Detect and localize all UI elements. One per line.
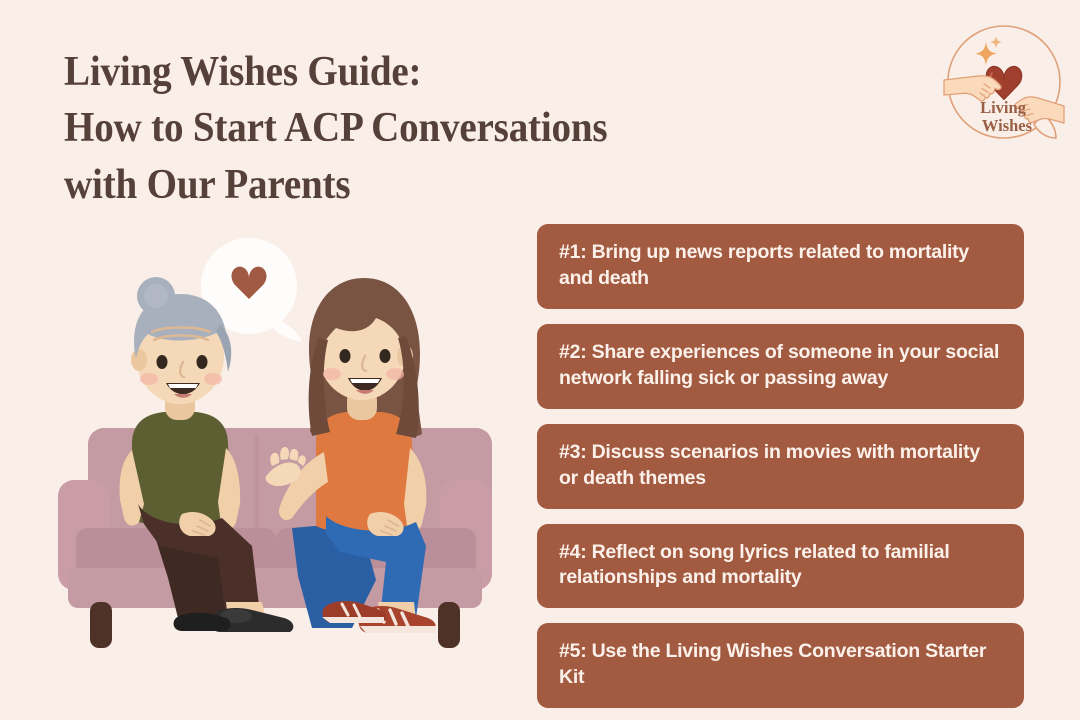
- logo-line-2: Wishes: [982, 116, 1033, 135]
- tip-card-5[interactable]: #5: Use the Living Wishes Conversation S…: [537, 623, 1024, 708]
- tip-text-5: #5: Use the Living Wishes Conversation S…: [559, 639, 1002, 691]
- left-eye: [340, 349, 351, 363]
- living-wishes-logo[interactable]: Living Wishes: [940, 18, 1068, 146]
- tip-text-1: #1: Bring up news reports related to mor…: [559, 240, 1002, 292]
- right-eye: [197, 355, 208, 369]
- tip-card-4[interactable]: #4: Reflect on song lyrics related to fa…: [537, 524, 1024, 609]
- tip-text-3: #3: Discuss scenarios in movies with mor…: [559, 440, 1002, 492]
- tip-card-1[interactable]: #1: Bring up news reports related to mor…: [537, 224, 1024, 309]
- tip-text-4: #4: Reflect on song lyrics related to fa…: [559, 540, 1002, 592]
- tip-text-2: #2: Share experiences of someone in your…: [559, 340, 1002, 392]
- illustration-two-women-on-sofa: [40, 228, 510, 648]
- sofa-leg-right: [438, 602, 460, 648]
- sofa-leg-left: [90, 602, 112, 648]
- page-title: Living Wishes Guide: How to Start ACP Co…: [64, 44, 808, 213]
- tip-card-3[interactable]: #3: Discuss scenarios in movies with mor…: [537, 424, 1024, 509]
- infographic-canvas: Living Wishes Guide: How to Start ACP Co…: [0, 0, 1080, 720]
- right-eye: [380, 349, 391, 363]
- logo-line-1: Living: [980, 98, 1027, 117]
- tip-card-2[interactable]: #2: Share experiences of someone in your…: [537, 324, 1024, 409]
- tips-list: #1: Bring up news reports related to mor…: [537, 224, 1024, 708]
- left-eye: [157, 355, 168, 369]
